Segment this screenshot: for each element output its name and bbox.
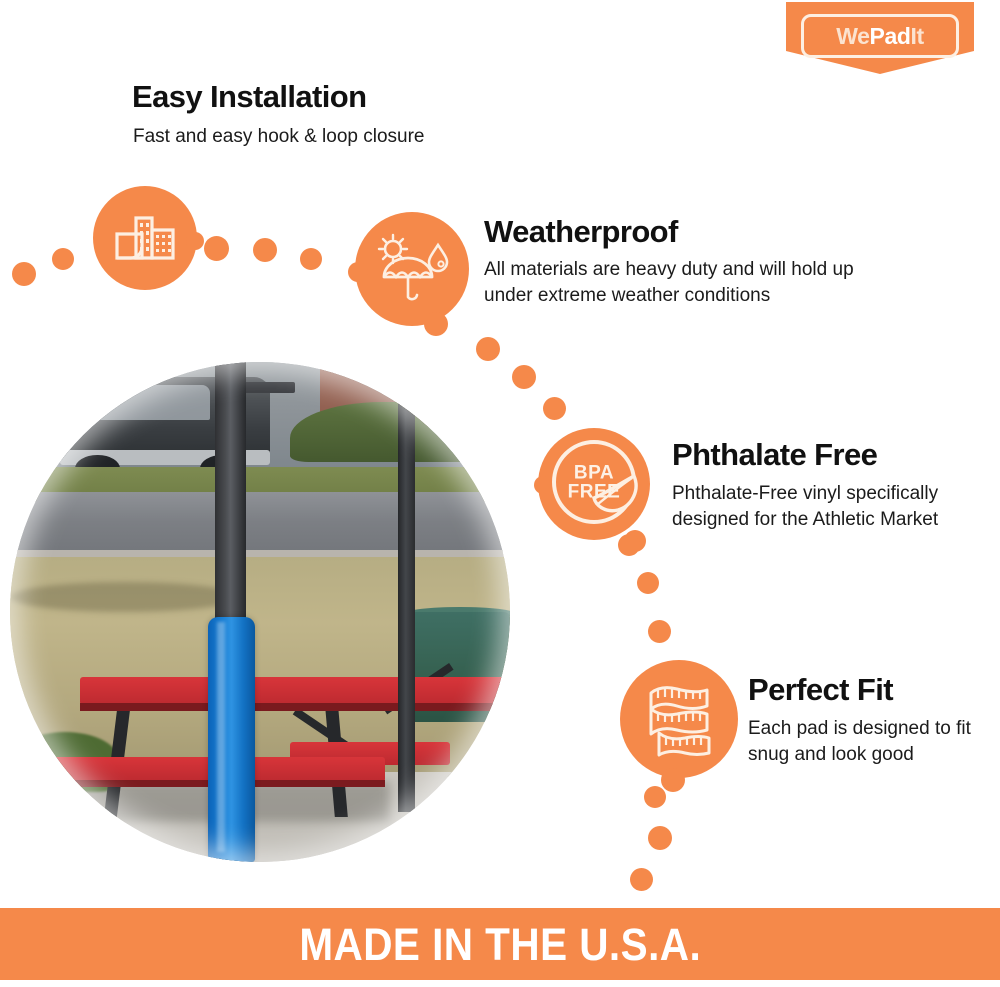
path-dot <box>300 248 322 270</box>
made-in-usa-text: MADE IN THE U.S.A. <box>299 922 701 967</box>
sun-umbrella-raindrop-icon <box>355 212 469 326</box>
bpa-label-line2: FREE <box>568 481 621 502</box>
path-dot <box>476 337 500 361</box>
path-dot <box>618 534 640 556</box>
logo-text: WePadIt <box>836 25 924 48</box>
feature-description-easy-installation: Fast and easy hook & loop closure <box>133 124 553 150</box>
photo-road <box>10 492 510 552</box>
brand-logo: WePadIt <box>786 2 974 74</box>
path-dot <box>543 397 566 420</box>
path-dot <box>52 248 74 270</box>
product-photo-scene <box>10 362 510 862</box>
photo-lawn-patch <box>10 582 240 612</box>
photo-vehicle-window <box>80 385 210 420</box>
feature-description-phthalate-free: Phthalate-Free vinyl specifically design… <box>672 481 942 533</box>
made-in-usa-banner: MADE IN THE U.S.A. <box>0 908 1000 980</box>
path-dot <box>512 365 536 389</box>
photo-pole-secondary <box>398 402 415 812</box>
feature-title-easy-installation: Easy Installation <box>132 80 366 113</box>
path-dot <box>644 786 666 808</box>
feature-title-weatherproof: Weatherproof <box>484 215 678 248</box>
infographic-canvas: WePadIt Easy Installation Fast and easy … <box>0 0 1000 987</box>
feature-description-perfect-fit: Each pad is designed to fit snug and loo… <box>748 716 978 768</box>
path-dot <box>630 868 653 891</box>
badge-nub-install <box>186 232 204 250</box>
path-dot <box>648 826 672 850</box>
bpa-free-label: BPA FREE <box>538 465 650 502</box>
bpa-free-leaf-icon: BPA FREE <box>538 428 650 540</box>
logo-text-we: We <box>836 23 869 49</box>
badge-nub-weather-2 <box>424 312 448 336</box>
building-installation-icon <box>93 186 197 290</box>
product-photo <box>10 362 510 862</box>
photo-picnic-table-edge <box>80 703 510 711</box>
path-dot <box>12 262 36 286</box>
feature-title-phthalate-free: Phthalate Free <box>672 438 877 471</box>
badge-nub-weather <box>348 262 368 282</box>
feature-title-perfect-fit: Perfect Fit <box>748 673 893 706</box>
path-dot <box>637 572 659 594</box>
badge-nub-fit <box>661 768 685 792</box>
photo-pad-highlight <box>217 622 225 852</box>
logo-text-pad: Pad <box>870 23 911 49</box>
measuring-tape-icon <box>620 660 738 778</box>
badge-nub-bpa <box>534 476 552 494</box>
photo-picnic-table-top <box>80 677 510 705</box>
path-dot <box>204 236 229 261</box>
path-dot <box>253 238 277 262</box>
feature-description-weatherproof: All materials are heavy duty and will ho… <box>484 257 904 309</box>
logo-outline-box: WePadIt <box>801 14 959 58</box>
logo-text-it: It <box>911 23 924 49</box>
photo-blue-pole-pad <box>208 617 255 862</box>
path-dot <box>648 620 671 643</box>
